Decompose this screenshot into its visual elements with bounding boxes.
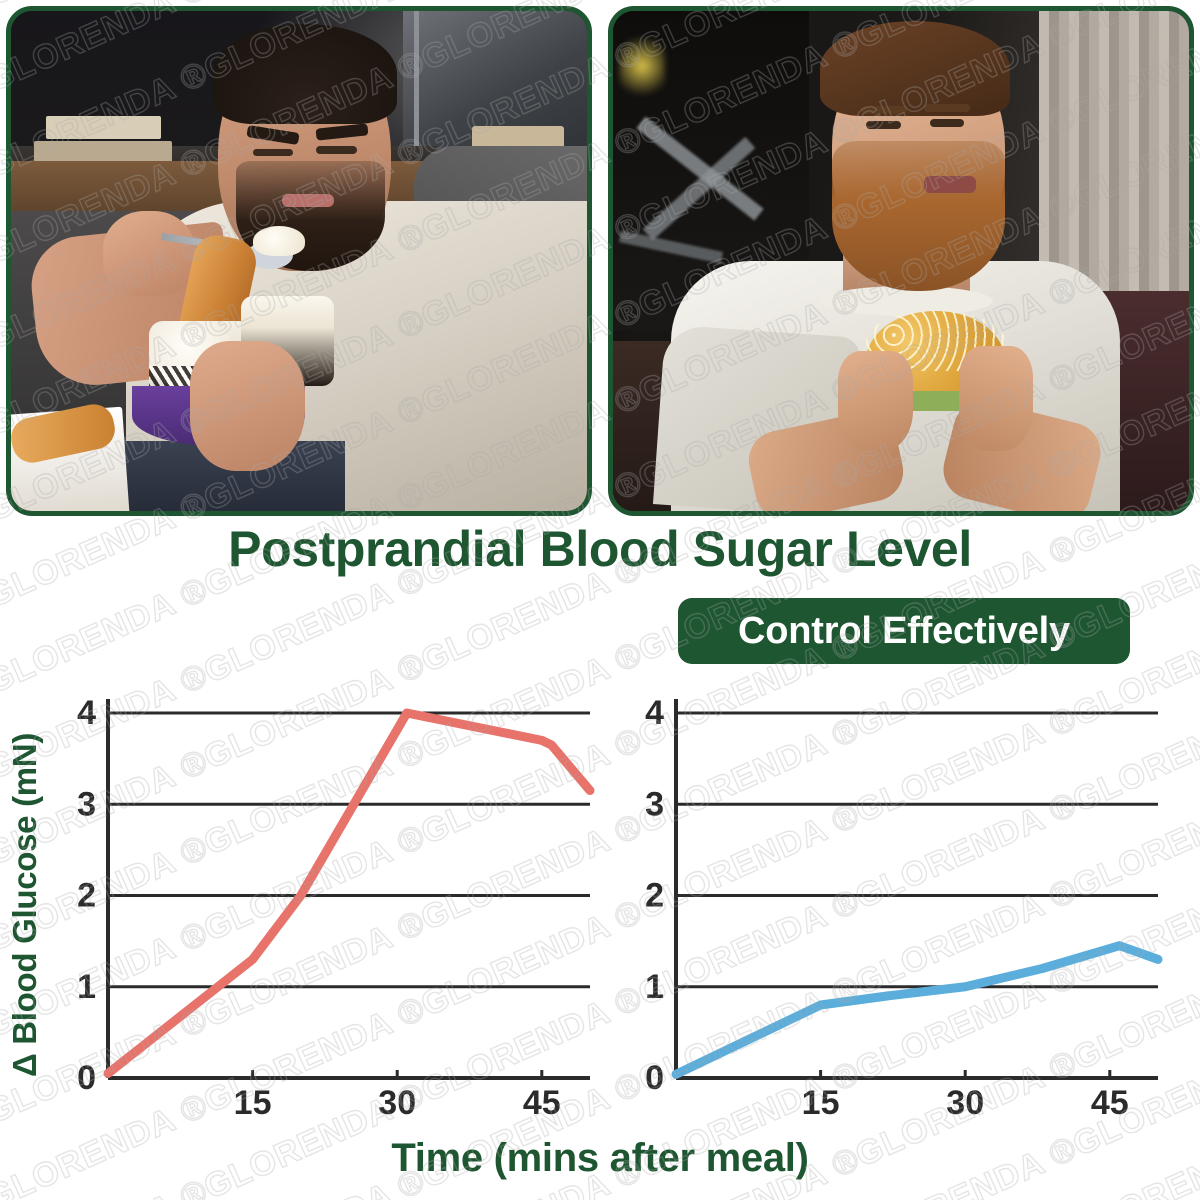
y-tick-label: 0 bbox=[77, 1059, 96, 1097]
y-tick-label: 2 bbox=[645, 877, 664, 915]
y-axis-label: Δ Blood Glucose (mN) bbox=[2, 690, 48, 1120]
page-title: Postprandial Blood Sugar Level bbox=[0, 520, 1200, 578]
x-tick-label: 45 bbox=[1091, 1084, 1129, 1120]
x-axis-label: Time (mins after meal) bbox=[0, 1136, 1200, 1181]
chart-without-control-svg: 01234153045 bbox=[60, 690, 600, 1120]
y-tick-label: 3 bbox=[77, 785, 96, 823]
y-tick-label: 4 bbox=[645, 694, 664, 732]
x-tick-label: 15 bbox=[802, 1084, 840, 1120]
x-tick-label: 15 bbox=[234, 1084, 272, 1120]
x-tick-label: 30 bbox=[946, 1084, 984, 1120]
chart-with-control: 01234153045 bbox=[628, 690, 1168, 1120]
y-tick-label: 3 bbox=[645, 785, 664, 823]
y-tick-label: 2 bbox=[77, 877, 96, 915]
chart-with-control-svg: 01234153045 bbox=[628, 690, 1168, 1120]
control-effectively-badge: Control Effectively bbox=[678, 598, 1130, 664]
y-tick-label: 1 bbox=[77, 968, 96, 1006]
x-tick-label: 30 bbox=[378, 1084, 416, 1120]
y-tick-label: 0 bbox=[645, 1059, 664, 1097]
series-line-with-control bbox=[676, 946, 1158, 1075]
x-tick-label: 45 bbox=[523, 1084, 561, 1120]
y-tick-label: 1 bbox=[645, 968, 664, 1006]
infographic-page: Postprandial Blood Sugar Level Control E… bbox=[0, 0, 1200, 1200]
badge-label: Control Effectively bbox=[738, 610, 1070, 653]
y-axis-label-text: Δ Blood Glucose (mN) bbox=[6, 733, 44, 1077]
chart-without-control: 01234153045 bbox=[60, 690, 600, 1120]
y-tick-label: 4 bbox=[77, 694, 96, 732]
series-line-without-control bbox=[108, 713, 590, 1073]
